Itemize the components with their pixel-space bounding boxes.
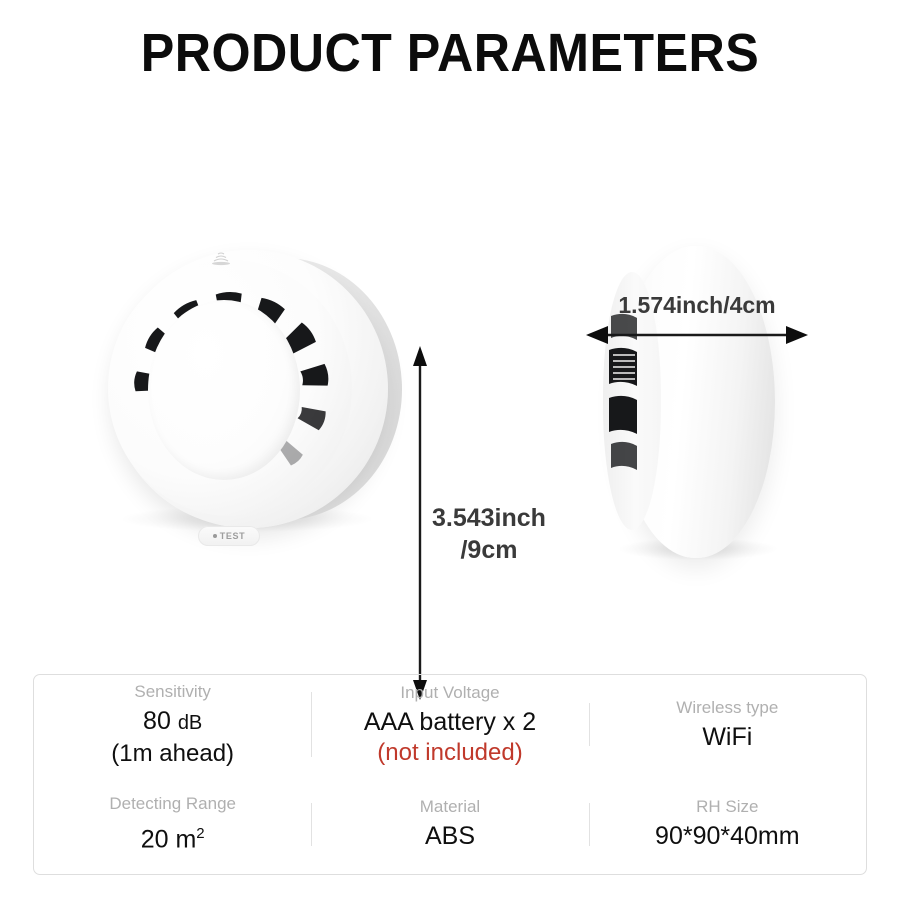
- spec-value: 90*90*40mm: [593, 821, 862, 852]
- product-hero: TEST 3.543inch /9cm 1.574inch/: [0, 120, 900, 640]
- spec-value-superscript: 2: [196, 825, 204, 842]
- spec-value-number: 20 m: [141, 825, 197, 853]
- test-button-indicator-icon: [213, 534, 217, 538]
- spec-cell-material: Material ABS: [311, 796, 588, 852]
- spec-value: AAA battery x 2: [315, 707, 584, 738]
- smoke-detector-side-view: [575, 238, 825, 568]
- spec-label: Material: [315, 796, 584, 818]
- side-view-vent-slots: [605, 310, 651, 490]
- spec-label: Wireless type: [593, 697, 862, 719]
- smoke-detector-front-view: TEST: [92, 238, 404, 568]
- spec-value-number: 80: [143, 707, 171, 735]
- spec-value: ABS: [315, 821, 584, 852]
- spec-table: Sensitivity 80 dB (1m ahead) Input Volta…: [33, 674, 867, 875]
- table-row: Detecting Range 20 m2 Material ABS RH Si…: [34, 775, 866, 875]
- spec-label: Sensitivity: [38, 681, 307, 703]
- page-title: PRODUCT PARAMETERS: [32, 22, 869, 84]
- spec-label: Detecting Range: [38, 793, 307, 815]
- spec-label: RH Size: [593, 796, 862, 818]
- test-button[interactable]: TEST: [198, 526, 260, 546]
- spec-cell-sensitivity: Sensitivity 80 dB (1m ahead): [34, 681, 311, 769]
- spec-value-unit: dB: [178, 712, 202, 734]
- front-view-center-dome: [148, 300, 300, 480]
- test-button-label: TEST: [220, 531, 245, 541]
- table-row: Sensitivity 80 dB (1m ahead) Input Volta…: [34, 675, 866, 775]
- double-arrow-vertical-icon: [412, 346, 428, 700]
- spec-label: Input Voltage: [315, 682, 584, 704]
- smoke-alarm-icon: [204, 246, 238, 268]
- spec-value: WiFi: [593, 722, 862, 753]
- spec-value: 80 dB: [38, 706, 307, 739]
- spec-subvalue: (1m ahead): [38, 739, 307, 769]
- spec-cell-rh-size: RH Size 90*90*40mm: [589, 796, 866, 852]
- spec-subvalue-warning: (not included): [315, 738, 584, 768]
- height-dimension-label: 3.543inch /9cm: [432, 502, 546, 566]
- spec-value: 20 m2: [38, 818, 307, 855]
- spec-cell-wireless-type: Wireless type WiFi: [589, 697, 866, 753]
- spec-cell-detecting-range: Detecting Range 20 m2: [34, 793, 311, 855]
- spec-cell-input-voltage: Input Voltage AAA battery x 2 (not inclu…: [311, 682, 588, 768]
